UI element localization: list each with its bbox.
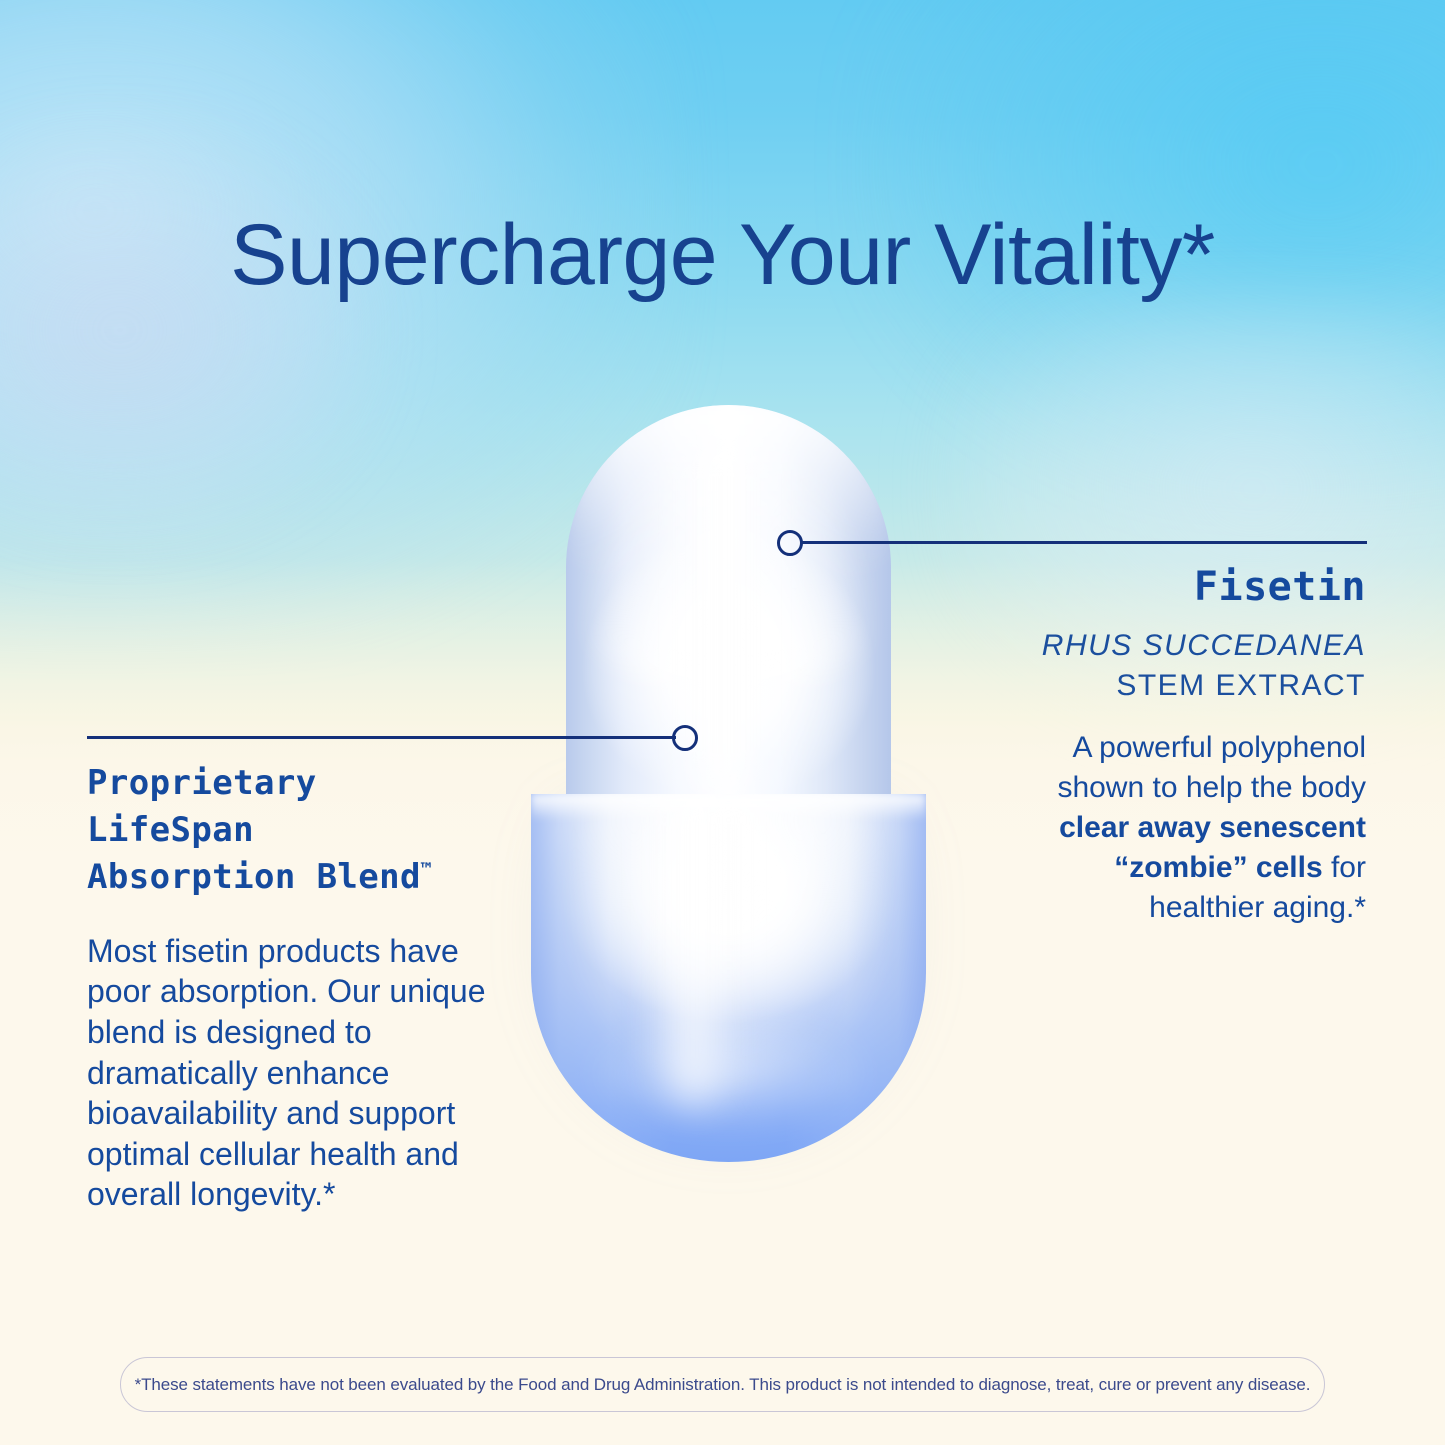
callout-fisetin-latin-line1: RHUS SUCCEDANEA <box>994 626 1366 666</box>
callout-blend-title: Proprietary LifeSpan Absorption Blend™ <box>87 760 517 901</box>
fda-disclaimer-text: *These statements have not been evaluate… <box>135 1375 1311 1395</box>
fda-disclaimer-pill: *These statements have not been evaluate… <box>120 1357 1325 1412</box>
callout-fisetin: Fisetin RHUS SUCCEDANEA STEM EXTRACT A p… <box>994 564 1366 928</box>
callout-marker-dot-right <box>777 530 803 556</box>
capsule-illustration <box>495 390 960 1190</box>
capsule-body-specular-sheen <box>649 794 739 1104</box>
callout-blend-title-line3: Absorption Blend <box>87 857 421 897</box>
callout-fisetin-name: Fisetin <box>994 564 1366 610</box>
callout-leader-line-right <box>801 541 1367 544</box>
trademark-symbol: ™ <box>421 859 432 880</box>
callout-fisetin-latin-line2: STEM EXTRACT <box>994 666 1366 706</box>
callout-blend-title-line2: LifeSpan <box>87 807 517 854</box>
callout-blend-title-line1: Proprietary <box>87 760 517 807</box>
callout-blend-title-line3-wrap: Absorption Blend™ <box>87 854 517 901</box>
capsule-body-rim-highlight <box>531 794 926 820</box>
capsule-cap-half <box>566 405 891 817</box>
product-infographic: Supercharge Your Vitality* Fisetin RHUS … <box>0 0 1445 1445</box>
callout-fisetin-description-part1: A powerful polyphenol shown to help the … <box>1057 731 1366 804</box>
callout-blend-description: Most fisetin products have poor absorpti… <box>87 931 517 1215</box>
callout-leader-line-left <box>87 736 676 739</box>
page-title: Supercharge Your Vitality* <box>0 210 1445 300</box>
background-left-lilac-haze <box>0 120 380 540</box>
callout-absorption-blend: Proprietary LifeSpan Absorption Blend™ M… <box>87 760 517 1215</box>
callout-fisetin-description-emphasis: clear away senescent “zombie” cells <box>1059 811 1366 884</box>
capsule-body-half <box>531 794 926 1162</box>
callout-fisetin-description: A powerful polyphenol shown to help the … <box>994 728 1366 927</box>
